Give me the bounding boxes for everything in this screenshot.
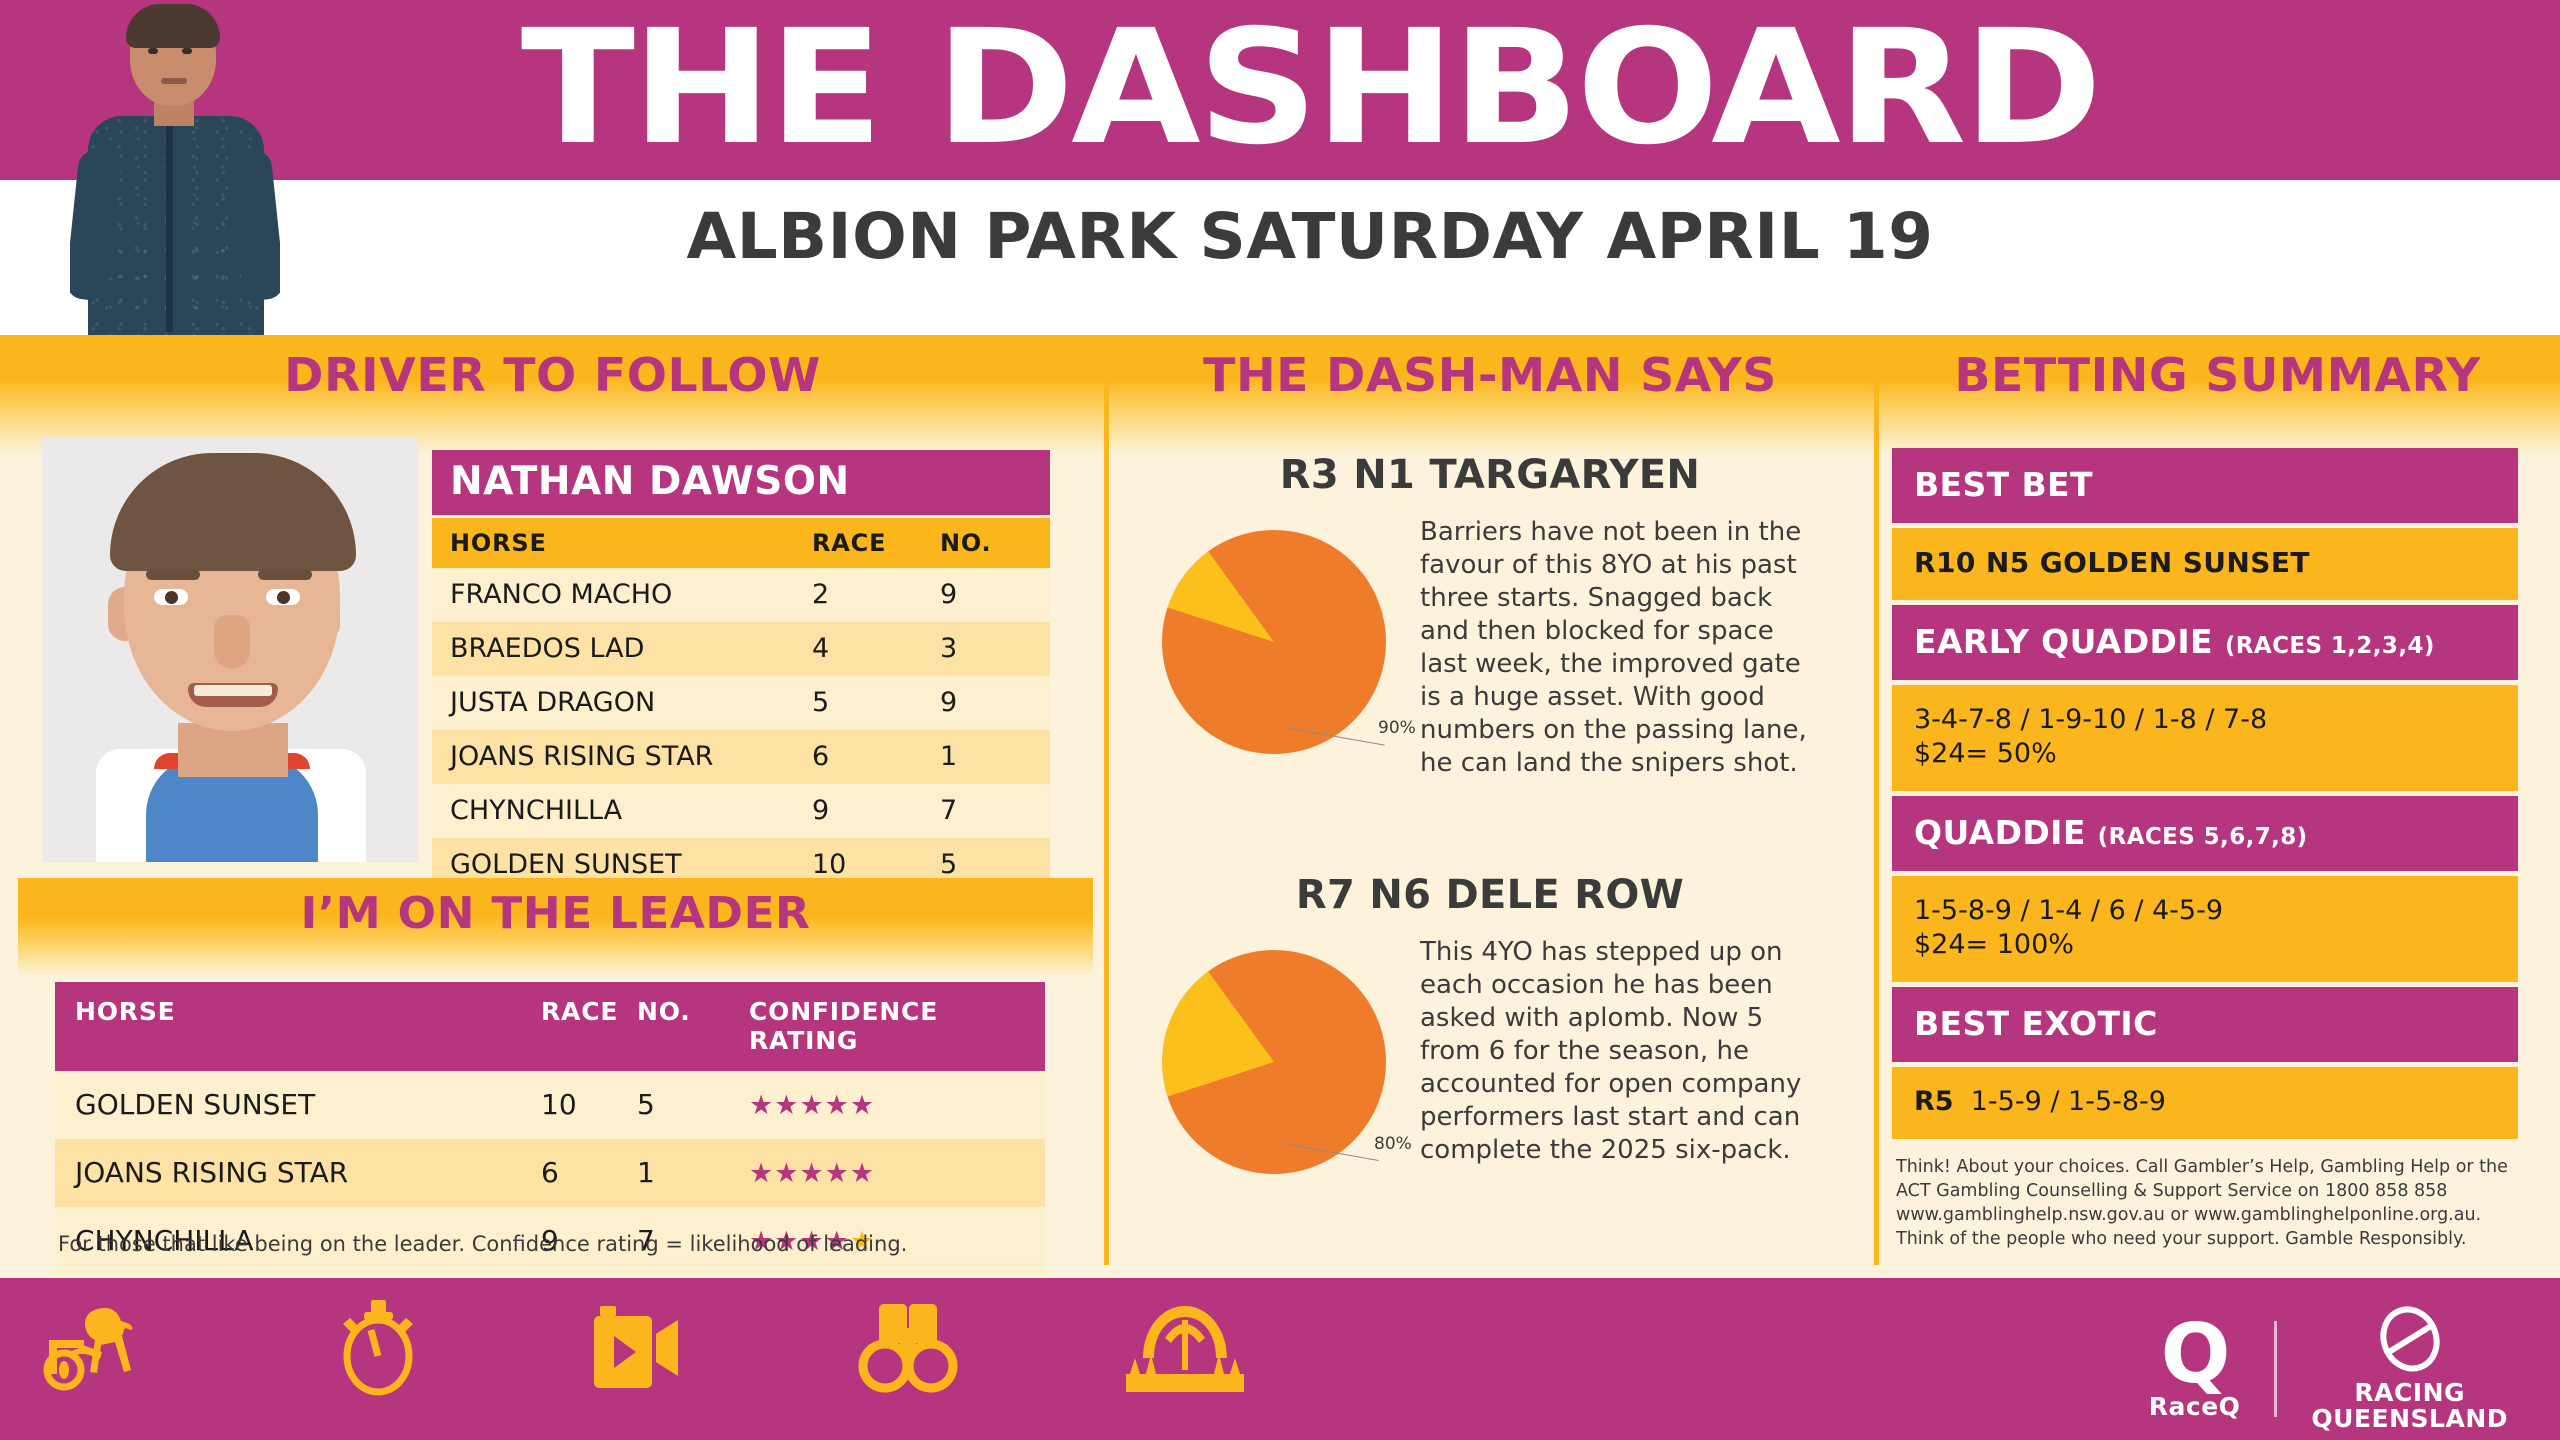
pie-slice-group	[1118, 906, 1431, 1219]
page-title: THE DASHBOARD	[303, 4, 2317, 176]
star-rating: ★★★★★	[749, 1090, 875, 1121]
cell-confidence-rating: ★★★★★	[729, 1139, 1045, 1207]
best-exotic-selections: 1-5-9 / 1-5-8-9	[1971, 1086, 2166, 1117]
cell-horse: FRANCO MACHO	[432, 568, 794, 622]
pie-value-label: 90%	[1378, 718, 1416, 738]
logo-divider	[2274, 1321, 2277, 1417]
best-bet-value[interactable]: R10 N5 GOLDEN SUNSET	[1892, 528, 2518, 600]
raceq-wordmark: RaceQ	[2149, 1392, 2241, 1421]
cell-horse: GOLDEN SUNSET	[55, 1071, 521, 1139]
stopwatch-icon	[330, 1296, 426, 1400]
grandstand-icon	[1120, 1298, 1250, 1398]
column-header-race: RACE	[794, 518, 922, 568]
driver-to-follow-table: NATHAN DAWSON HORSE RACE NO. FRANCO MACH…	[432, 450, 1050, 892]
raceq-q-mark: Q	[2161, 1318, 2229, 1392]
quaddie-line2: $24= 100%	[1914, 929, 2074, 960]
section-title-driver-to-follow: DRIVER TO FOLLOW	[0, 348, 1122, 402]
driver-name: NATHAN DAWSON	[432, 450, 1050, 515]
early-quaddie-races: (RACES 1,2,3,4)	[2225, 633, 2435, 659]
table-row[interactable]: GOLDEN SUNSET 10 5 ★★★★★	[55, 1071, 1045, 1139]
table-row[interactable]: JUSTA DRAGON 5 9	[432, 676, 1050, 730]
column-header-no: NO.	[617, 982, 729, 1071]
dashboard-page: THE DASHBOARD ALBION PARK SATURDAY APRIL…	[0, 0, 2560, 1440]
dashman-comment: This 4YO has stepped up on each occasion…	[1420, 932, 1820, 1182]
column-divider-right	[1874, 335, 1879, 1265]
column-header-horse: HORSE	[432, 518, 794, 568]
cell-race: 4	[794, 622, 922, 676]
quaddie-header: QUADDIE (RACES 5,6,7,8)	[1892, 796, 2518, 871]
dashman-title: R7 N6 DELE ROW	[1140, 872, 1840, 918]
cell-horse: JOANS RISING STAR	[432, 730, 794, 784]
racing-queensland-mark	[2367, 1306, 2453, 1372]
table-row[interactable]: FRANCO MACHO 2 9	[432, 568, 1050, 622]
cell-no: 9	[922, 676, 1050, 730]
cell-no: 3	[922, 622, 1050, 676]
table-row[interactable]: CHYNCHILLA 9 7	[432, 784, 1050, 838]
best-bet-header: BEST BET	[1892, 448, 2518, 523]
leader-footnote: For those that like being on the leader.…	[58, 1232, 907, 1256]
pie-slice-group	[1118, 486, 1431, 799]
cell-horse: CHYNCHILLA	[432, 784, 794, 838]
table-row[interactable]: BRAEDOS LAD 4 3	[432, 622, 1050, 676]
early-quaddie-label: EARLY QUADDIE	[1914, 622, 2213, 661]
dashman-entry: R7 N6 DELE ROW 80% This 4YO has stepped …	[1140, 872, 1840, 1182]
section-title-dash-man-says: THE DASH-MAN SAYS	[1093, 348, 1886, 402]
driver-portrait	[42, 437, 418, 862]
cell-no: 1	[922, 730, 1050, 784]
best-exotic-header: BEST EXOTIC	[1892, 987, 2518, 1062]
cell-race: 5	[794, 676, 922, 730]
footer-icon-row	[40, 1296, 1250, 1400]
column-header-confidence-rating: CONFIDENCE RATING	[729, 982, 1045, 1071]
betting-summary-panel: BEST BET R10 N5 GOLDEN SUNSET EARLY QUAD…	[1892, 448, 2518, 1144]
harness-racing-icon	[40, 1298, 170, 1398]
racing-line-2: QUEENSLAND	[2311, 1406, 2508, 1432]
footer-logo-row: Q RaceQ RACING QUEENSLAND	[2149, 1306, 2508, 1432]
star-rating: ★★★★★	[749, 1158, 875, 1189]
pie-value-label: 80%	[1374, 1134, 1412, 1154]
confidence-pie-chart: 80%	[1140, 932, 1420, 1182]
raceq-logo: Q RaceQ	[2149, 1318, 2241, 1421]
cell-no: 5	[617, 1071, 729, 1139]
racing-line-1: RACING	[2354, 1380, 2465, 1406]
cell-no: 9	[922, 568, 1050, 622]
cell-race: 9	[794, 784, 922, 838]
cell-horse: BRAEDOS LAD	[432, 622, 794, 676]
cell-race: 6	[521, 1139, 617, 1207]
cell-race: 2	[794, 568, 922, 622]
dashman-entry: R3 N1 TARGARYEN 90% Barriers have not be…	[1140, 452, 1840, 780]
presenter-photo	[70, 0, 280, 335]
leader-table-header: HORSE RACE NO. CONFIDENCE RATING	[55, 982, 1045, 1071]
cell-confidence-rating: ★★★★★	[729, 1071, 1045, 1139]
early-quaddie-line2: $24= 50%	[1914, 738, 2057, 769]
cell-horse: JUSTA DRAGON	[432, 676, 794, 730]
column-divider-left	[1104, 335, 1109, 1265]
best-exotic-value[interactable]: R5 1-5-9 / 1-5-8-9	[1892, 1067, 2518, 1139]
cell-no: 7	[922, 784, 1050, 838]
responsible-gambling-disclaimer: Think! About your choices. Call Gambler’…	[1896, 1155, 2526, 1251]
section-title-im-on-the-leader: I’M ON THE LEADER	[2, 888, 1109, 939]
confidence-pie-chart: 90%	[1140, 512, 1420, 762]
early-quaddie-line1: 3-4-7-8 / 1-9-10 / 1-8 / 7-8	[1914, 704, 2267, 735]
table-row[interactable]: JOANS RISING STAR 6 1 ★★★★★	[55, 1139, 1045, 1207]
driver-table-header: HORSE RACE NO.	[432, 518, 1050, 568]
early-quaddie-value[interactable]: 3-4-7-8 / 1-9-10 / 1-8 / 7-8 $24= 50%	[1892, 685, 2518, 791]
cell-horse: JOANS RISING STAR	[55, 1139, 521, 1207]
dashman-comment: Barriers have not been in the favour of …	[1420, 512, 1820, 780]
meeting-subtitle: ALBION PARK SATURDAY APRIL 19	[341, 200, 2279, 273]
section-title-betting-summary: BETTING SUMMARY	[1865, 348, 2560, 402]
best-exotic-race: R5	[1914, 1086, 1954, 1117]
early-quaddie-header: EARLY QUADDIE (RACES 1,2,3,4)	[1892, 605, 2518, 680]
binoculars-icon	[856, 1298, 960, 1398]
column-header-horse: HORSE	[55, 982, 521, 1071]
quaddie-line1: 1-5-8-9 / 1-4 / 6 / 4-5-9	[1914, 895, 2223, 926]
racing-queensland-logo: RACING QUEENSLAND	[2311, 1306, 2508, 1432]
cell-race: 6	[794, 730, 922, 784]
cell-no: 1	[617, 1139, 729, 1207]
video-camera-icon	[586, 1300, 696, 1396]
quaddie-races: (RACES 5,6,7,8)	[2098, 824, 2308, 850]
quaddie-label: QUADDIE	[1914, 813, 2086, 852]
table-row[interactable]: JOANS RISING STAR 6 1	[432, 730, 1050, 784]
leader-section-fade	[18, 942, 1093, 976]
column-header-race: RACE	[521, 982, 617, 1071]
dashman-title: R3 N1 TARGARYEN	[1140, 452, 1840, 498]
column-header-no: NO.	[922, 518, 1050, 568]
cell-race: 10	[521, 1071, 617, 1139]
quaddie-value[interactable]: 1-5-8-9 / 1-4 / 6 / 4-5-9 $24= 100%	[1892, 876, 2518, 982]
